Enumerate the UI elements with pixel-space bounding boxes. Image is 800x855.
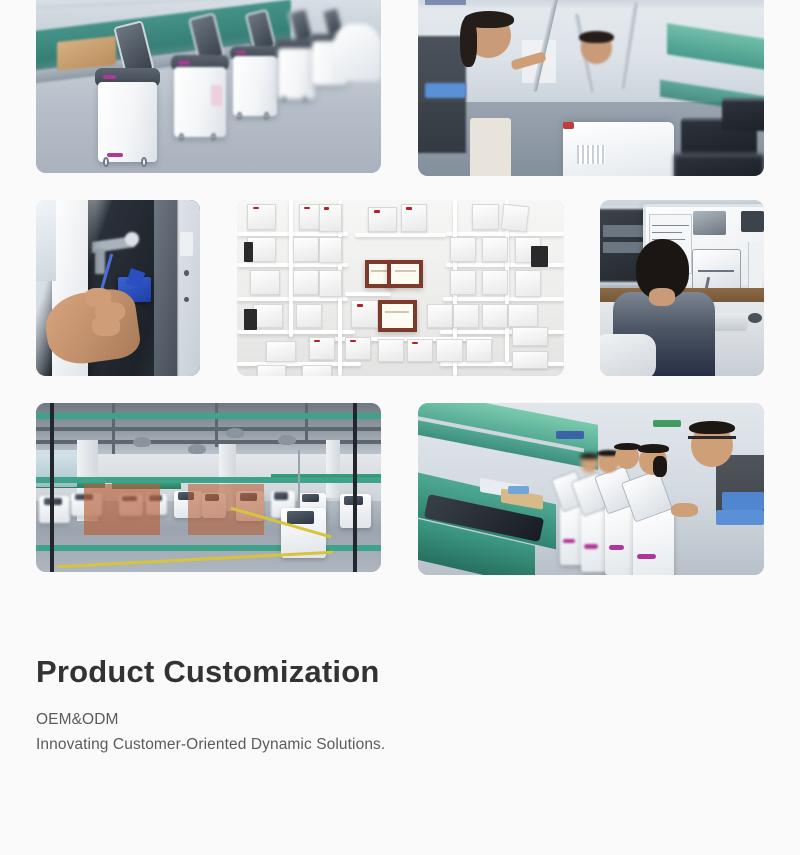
photo-factory-floor[interactable] — [36, 403, 381, 572]
page-title: Product Customization — [36, 655, 736, 689]
photo-cad-engineer[interactable] — [600, 200, 764, 376]
photo-certificate-wall[interactable] — [237, 200, 564, 376]
factory-photo-gallery — [0, 0, 800, 600]
photo-hand-blue-connector[interactable] — [36, 200, 200, 376]
section-subtitle: OEM&ODM — [36, 711, 736, 729]
product-customization-section: Product Customization OEM&ODM Innovating… — [36, 655, 736, 754]
photo-assembly-workers-row[interactable] — [418, 403, 764, 575]
page-root: Product Customization OEM&ODM Innovating… — [0, 0, 800, 855]
photo-worker-articulated-arm[interactable] — [418, 0, 764, 176]
photo-assembly-line-carts[interactable] — [36, 0, 381, 173]
section-description: Innovating Customer-Oriented Dynamic Sol… — [36, 736, 736, 754]
